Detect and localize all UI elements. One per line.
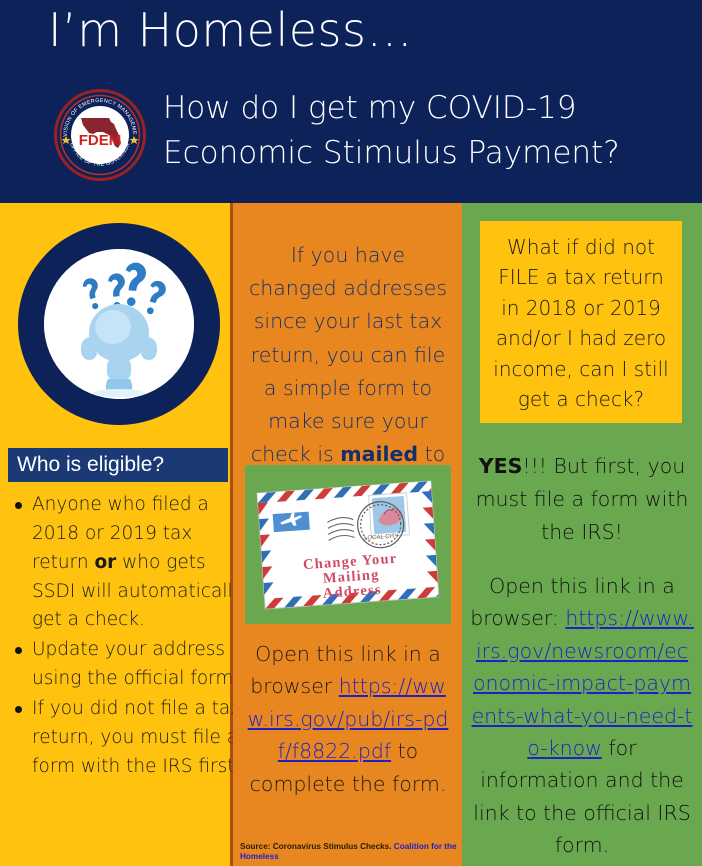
answer-yes-bold: YES: [479, 454, 523, 478]
paragraph-pre: If you have changed addresses since your…: [249, 243, 447, 466]
infographic-poster: I’m Homeless… How do I get my COVID-19 E…: [0, 0, 702, 866]
middle-link-paragraph: Open this link in a browser https://www.…: [242, 638, 454, 800]
page-subtitle-line-1: How do I get my COVID-19: [163, 86, 693, 131]
envelope-image: LOCAL CITY Change Your Mailing Address: [245, 465, 451, 624]
source-attribution: Source: Coronavirus Stimulus Checks. Coa…: [240, 842, 462, 862]
question-marks-circle: [18, 223, 220, 425]
eligibility-bullet-list: Anyone who filed a 2018 or 2019 tax retu…: [8, 491, 250, 783]
svg-text:FDEM: FDEM: [79, 132, 122, 149]
non-filer-question-box: What if did not FILE a tax return in 201…: [480, 221, 682, 423]
list-item: If you did not file a tax return, you mu…: [32, 695, 250, 782]
list-item: Anyone who filed a 2018 or 2019 tax retu…: [32, 491, 250, 635]
who-is-eligible-banner: Who is eligible?: [8, 448, 228, 482]
bullet-text-pre: Update your address using the official f…: [32, 639, 239, 689]
fdem-seal-icon: FDEM DIVISION OF EMERGENCY MANAGEMENT OF…: [53, 88, 147, 182]
left-column-eligibility: Who is eligible? Anyone who filed a 2018…: [0, 203, 233, 866]
poster-header: I’m Homeless… How do I get my COVID-19 E…: [0, 0, 702, 203]
page-title: I’m Homeless…: [48, 6, 413, 54]
right-link-paragraph: Open this link in a browser: https://www…: [470, 570, 694, 861]
bullet-text-bold: or: [94, 552, 116, 573]
bullet-text-pre: If you did not file a tax return, you mu…: [32, 698, 241, 777]
page-subtitle: How do I get my COVID-19 Economic Stimul…: [163, 86, 693, 176]
non-filer-answer: YES!!! But first, you must file a form w…: [472, 450, 692, 548]
paragraph-bold-mailed: mailed: [340, 442, 418, 466]
middle-column-address-change: If you have changed addresses since your…: [233, 203, 462, 866]
list-item: Update your address using the official f…: [32, 636, 250, 694]
right-column-non-filers: What if did not FILE a tax return in 201…: [462, 203, 702, 866]
who-is-eligible-label: Who is eligible?: [8, 453, 164, 477]
page-subtitle-line-2: Economic Stimulus Payment?: [163, 131, 693, 176]
confused-person-icon: [44, 249, 194, 399]
non-filer-question-text: What if did not FILE a tax return in 201…: [493, 235, 668, 411]
source-prefix: Source: Coronavirus Stimulus Checks.: [240, 842, 394, 851]
